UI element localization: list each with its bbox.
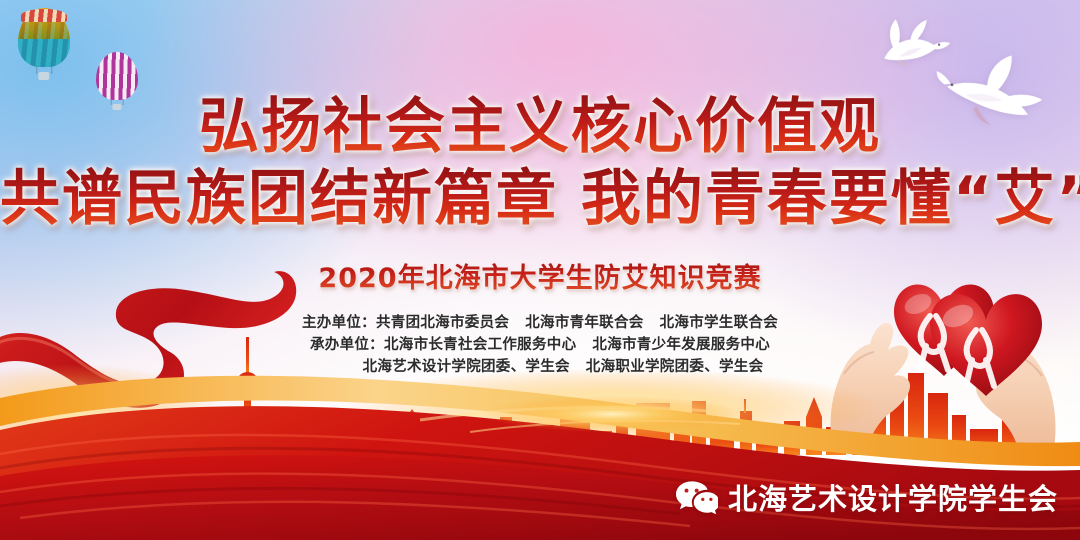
organizer-entry: 北海艺术设计学院团委、学生会 [363, 359, 570, 375]
hot-air-balloon-yellow-teal-icon [18, 8, 70, 80]
title-line-2-text: 共谱民族团结新篇章 我的青春要懂“艾” [0, 164, 1080, 234]
organizer-row-label: 主办单位： [302, 315, 376, 331]
organizer-row: 北海艺术设计学院团委、学生会北海职业学院团委、学生会 [0, 356, 1080, 378]
balloon-envelope [18, 8, 70, 67]
organizer-entry: 北海市学生联合会 [660, 315, 778, 331]
organizer-entry: 共青团北海市委员会 [376, 315, 509, 331]
wechat-icon [676, 480, 718, 514]
wechat-account-name: 北海艺术设计学院学生会 [728, 476, 1058, 518]
organizer-block: 主办单位：共青团北海市委员会北海市青年联合会北海市学生联合会承办单位：北海市长青… [0, 312, 1080, 378]
wechat-credit: 北海艺术设计学院学生会 [676, 476, 1058, 518]
organizer-row-label: 承办单位： [310, 337, 384, 353]
poster-subtitle: 2020年北海市大学生防艾知识竞赛 [0, 256, 1080, 295]
organizer-row: 主办单位：共青团北海市委员会北海市青年联合会北海市学生联合会 [0, 312, 1080, 334]
poster-title-line-2: 共谱民族团结新篇章 我的青春要懂“艾” 共谱民族团结新篇章 我的青春要懂“艾” [0, 150, 1080, 237]
organizer-entry: 北海职业学院团委、学生会 [586, 359, 764, 375]
organizer-entry: 北海市青少年发展服务中心 [592, 337, 770, 353]
organizer-row: 承办单位：北海市长青社会工作服务中心北海市青少年发展服务中心 [0, 334, 1080, 356]
organizer-entry: 北海市青年联合会 [525, 315, 643, 331]
poster-banner: 弘扬社会主义核心价值观 弘扬社会主义核心价值观 共谱民族团结新篇章 我的青春要懂… [0, 0, 1080, 540]
organizer-entry: 北海市长青社会工作服务中心 [384, 337, 576, 353]
